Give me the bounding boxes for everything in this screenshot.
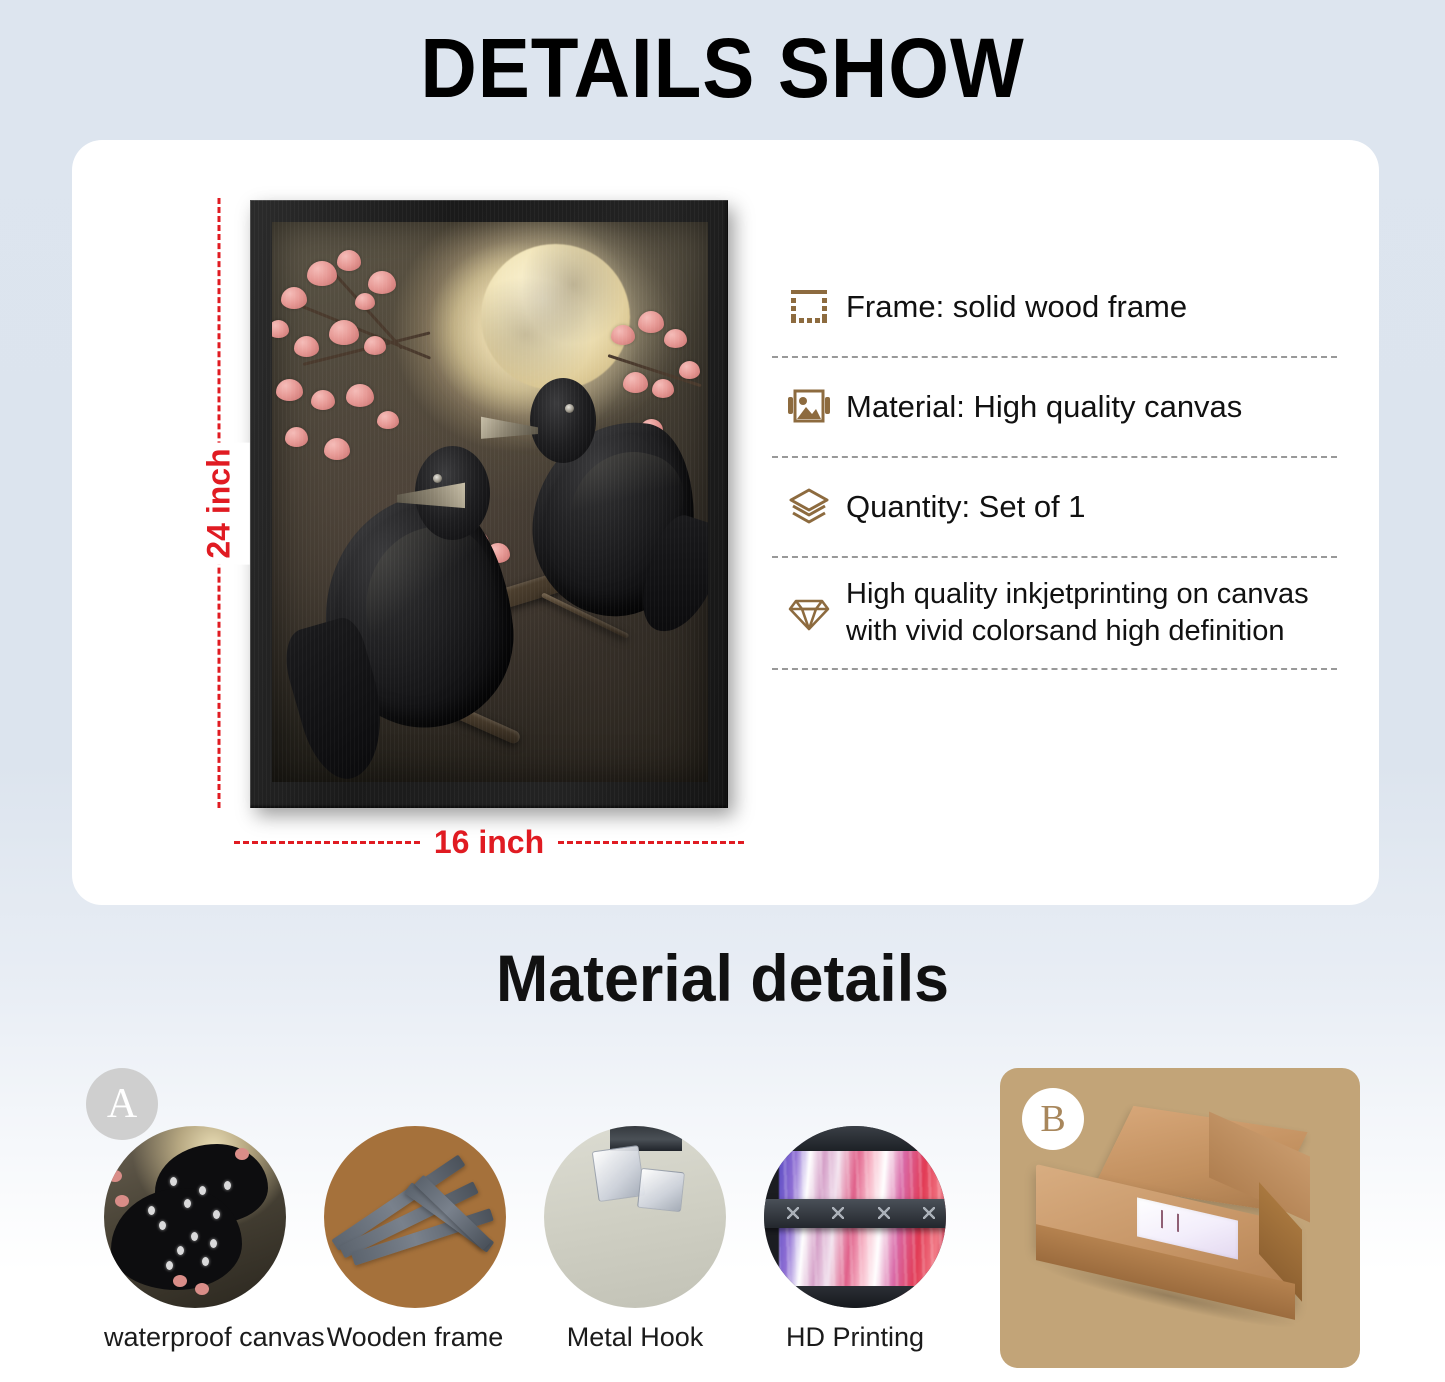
feature-label-frame: Frame: solid wood frame	[846, 287, 1187, 327]
framed-artwork	[250, 200, 728, 808]
dimension-width: 16 inch	[234, 818, 744, 866]
dimension-height: 24 inch	[196, 198, 242, 808]
raven-lower	[316, 446, 543, 760]
material-thumbnail-list: waterproof canvas Wooden frame Metal Hoo…	[104, 1126, 946, 1353]
badge-b: B	[1022, 1088, 1084, 1150]
feature-printing-line1: High quality inkjetprinting on canvas	[846, 578, 1309, 610]
diamond-icon	[772, 585, 846, 641]
page-title: DETAILS SHOW	[51, 24, 1395, 112]
material-thumbnail-wooden-frame[interactable]: Wooden frame	[324, 1126, 506, 1353]
dimension-height-label: 24 inch	[189, 442, 250, 564]
feature-label-material: Material: High quality canvas	[846, 387, 1242, 427]
feature-row-printing: High quality inkjetprinting on canvas wi…	[772, 558, 1337, 670]
frame-icon	[772, 279, 846, 335]
feature-label-quantity: Quantity: Set of 1	[846, 487, 1086, 527]
material-thumbnail-metal-hook[interactable]: Metal Hook	[544, 1126, 726, 1353]
feature-row-frame: Frame: solid wood frame	[772, 258, 1337, 358]
layers-icon	[772, 479, 846, 535]
feature-list: Frame: solid wood frame Material: High q…	[772, 258, 1337, 670]
badge-a: A	[86, 1068, 158, 1140]
artwork-canvas	[272, 222, 708, 782]
dimension-width-label: 16 inch	[434, 824, 544, 861]
thumbnail-label-canvas: waterproof canvas	[104, 1322, 286, 1353]
product-preview: 24 inch	[182, 170, 712, 870]
detail-card: 24 inch	[72, 140, 1379, 905]
thumbnail-image-canvas	[104, 1126, 286, 1308]
thumbnail-label-frame: Wooden frame	[324, 1322, 506, 1353]
material-group-b: B	[1000, 1068, 1360, 1368]
dimension-width-line-left	[234, 841, 420, 844]
thumbnail-image-frame	[324, 1126, 506, 1308]
feature-row-quantity: Quantity: Set of 1	[772, 458, 1337, 558]
feature-printing-line2: with vivid colorsand high definition	[846, 615, 1284, 647]
thumbnail-image-hook	[544, 1126, 726, 1308]
material-thumbnail-hd-printing[interactable]: HD Printing	[764, 1126, 946, 1353]
material-group-a: A waterproof canvas	[86, 1068, 956, 1368]
feature-label-printing: High quality inkjetprinting on canvas wi…	[846, 576, 1309, 650]
section-title: Material details	[36, 940, 1409, 1016]
thumbnail-label-hook: Metal Hook	[544, 1322, 726, 1353]
thumbnail-label-printing: HD Printing	[764, 1322, 946, 1353]
thumbnail-image-printing	[764, 1126, 946, 1308]
image-icon	[772, 379, 846, 435]
feature-row-material: Material: High quality canvas	[772, 358, 1337, 458]
dimension-width-line-right	[558, 841, 744, 844]
material-thumbnail-waterproof-canvas[interactable]: waterproof canvas	[104, 1126, 286, 1353]
